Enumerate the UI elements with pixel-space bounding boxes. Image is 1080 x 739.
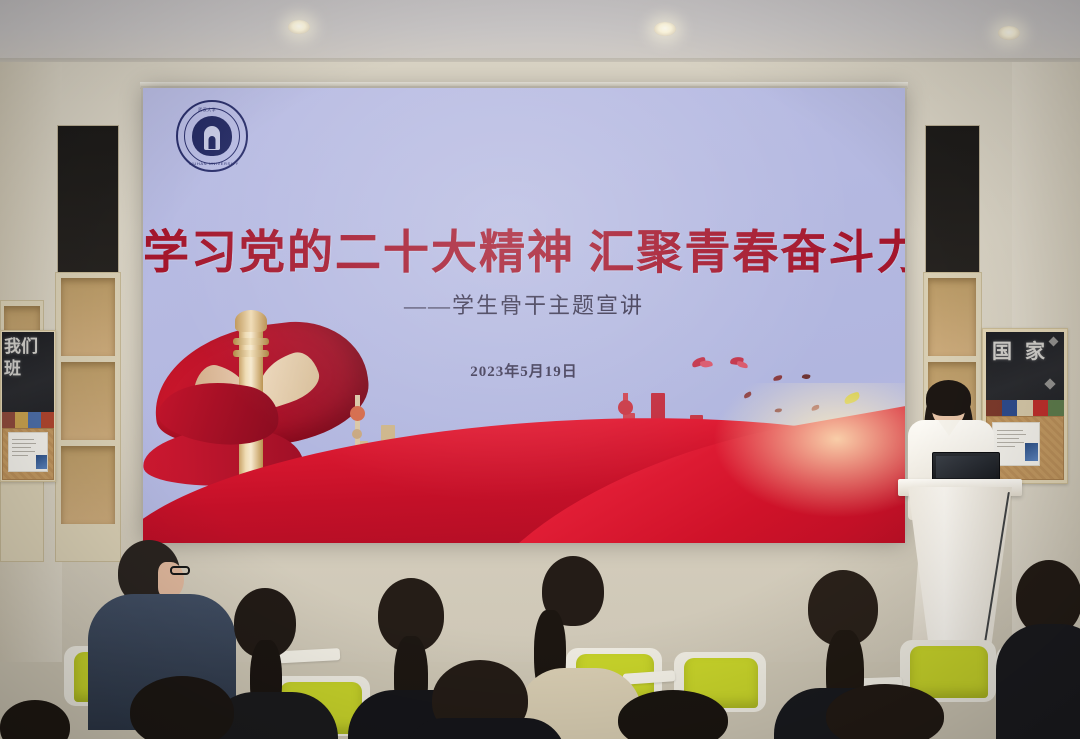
- projection-screen: 武汉大学 WUHAN UNIVERSITY 学习党的二十大精神 汇聚青春奋斗力量…: [143, 88, 905, 543]
- right-shelf-bay-1: [928, 278, 976, 356]
- ceiling: [0, 0, 1080, 62]
- logo-arc-top-text: 武汉大学: [198, 107, 216, 113]
- downlight-3: [998, 26, 1020, 40]
- monument-cap: [235, 310, 267, 332]
- left-chalk-text: 我们 班: [4, 336, 52, 380]
- left-notice-poster: [8, 432, 48, 472]
- left-shelf-bay-2: [61, 362, 115, 440]
- tv-tower-ball-left: [350, 406, 365, 421]
- right-chalk-text: 国 家: [992, 340, 1058, 364]
- tv-tower-ball-right: [618, 400, 633, 415]
- speaker-hair-top: [926, 380, 971, 416]
- tablet-arm-2: [623, 670, 676, 685]
- slide-main-title: 学习党的二十大精神 汇聚青春奋斗力量: [143, 216, 905, 282]
- left-shelf-bay-1: [61, 278, 115, 356]
- university-seal-logo: 武汉大学 WUHAN UNIVERSITY: [176, 100, 248, 172]
- right-av-panel: [925, 125, 980, 273]
- left-av-panel: [57, 125, 119, 273]
- downlight-1: [288, 20, 310, 34]
- left-shelf-bay-3: [61, 446, 115, 524]
- ribbon-gold-glow: [705, 383, 905, 523]
- downlight-2: [654, 22, 676, 36]
- monument-band-2: [233, 350, 269, 357]
- monument-band-1: [233, 338, 269, 345]
- lecture-hall-photo: 我们 班 国 家: [0, 0, 1080, 739]
- logo-arc-bottom-text: WUHAN UNIVERSITY: [189, 161, 239, 166]
- tv-tower-ball-left-small: [352, 429, 362, 439]
